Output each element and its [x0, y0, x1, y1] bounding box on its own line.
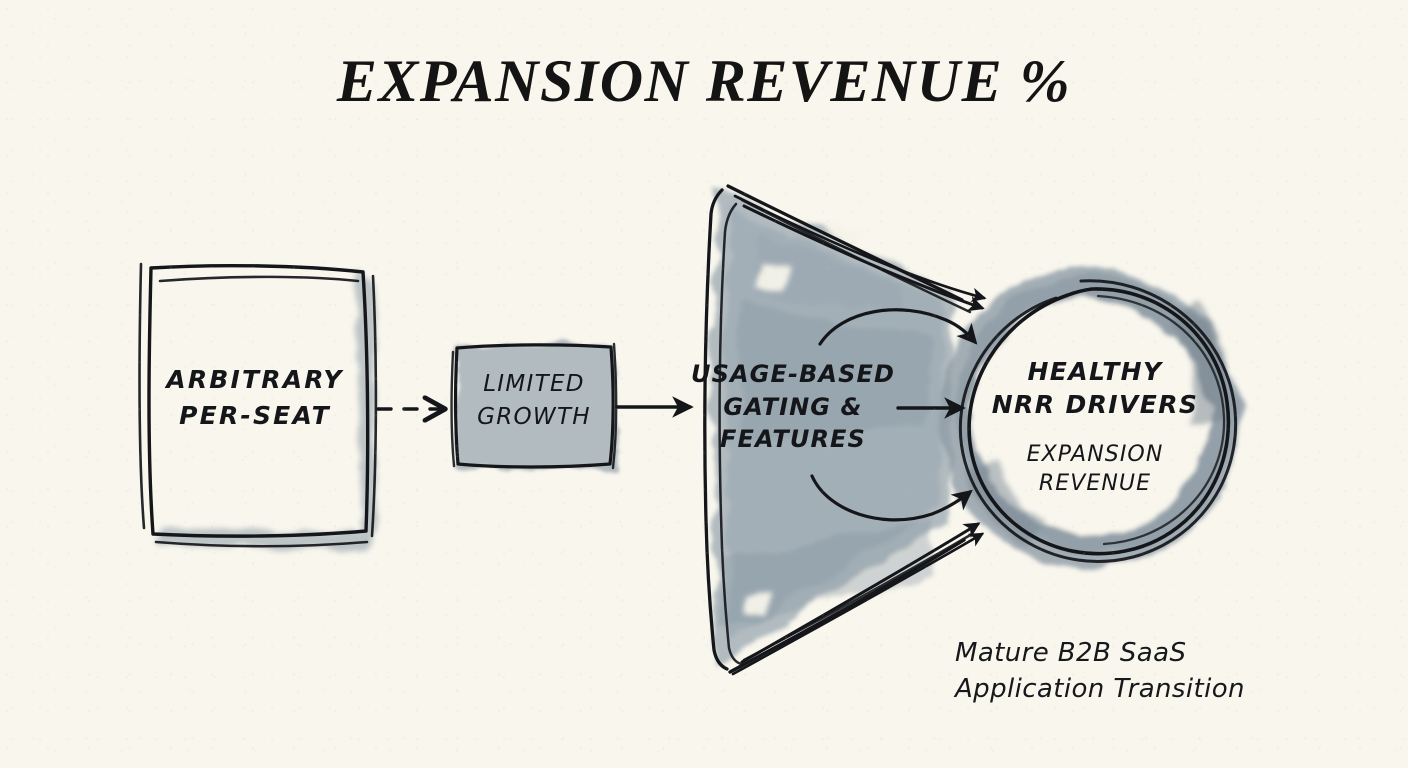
- outcome-circle-subtitle: EXPANSION REVENUE: [975, 440, 1215, 498]
- page-title: EXPANSION REVENUE %: [0, 47, 1408, 117]
- outcome-circle-title: HEALTHY NRR DRIVERS: [975, 356, 1215, 421]
- diagram-canvas: EXPANSION REVENUE % ARBITRARY PER-SEAT L…: [0, 0, 1408, 768]
- source-box-label: ARBITRARY PER-SEAT: [140, 362, 370, 435]
- funnel-label: USAGE-BASED GATING & FEATURES: [688, 358, 898, 456]
- growth-box-label: LIMITED GROWTH: [455, 368, 613, 433]
- diagram-caption: Mature B2B SaaS Application Transition: [955, 636, 1285, 708]
